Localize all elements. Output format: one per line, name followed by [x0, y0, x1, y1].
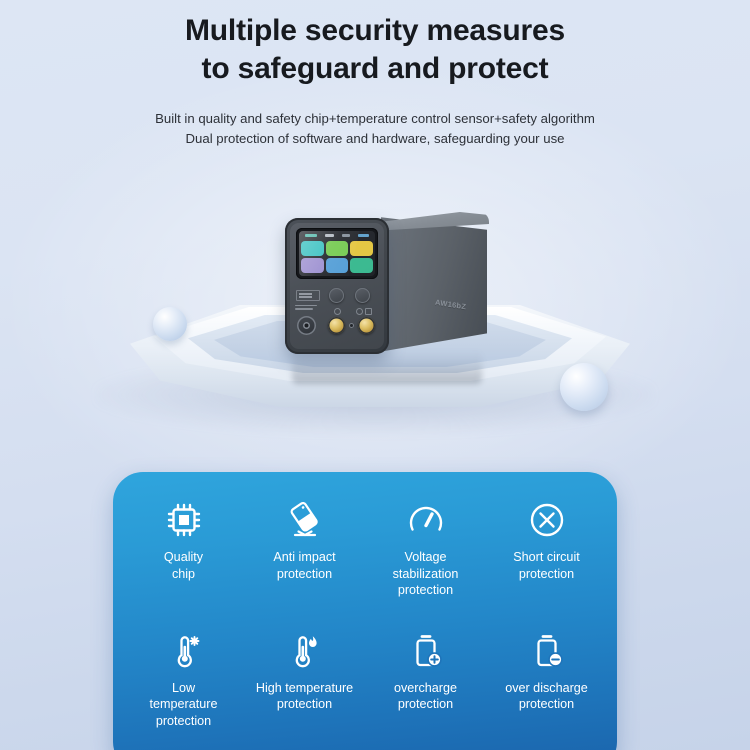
feature-label: High temperature protection — [247, 680, 362, 713]
headline-line-1: Multiple security measures — [0, 12, 750, 50]
battery-plus-icon — [368, 629, 483, 673]
wifi-bar-icon — [358, 234, 369, 237]
label-line: chip — [126, 566, 241, 583]
screen-tile-grid — [299, 240, 375, 275]
dc-input-jack[interactable] — [297, 316, 316, 335]
features-card: Quality chip — [113, 472, 617, 750]
gauge-icon — [368, 498, 483, 542]
device-front-panel — [285, 218, 389, 354]
screen-tile-4[interactable] — [301, 258, 324, 273]
label-line: overcharge — [368, 680, 483, 697]
product-scene: AW16bZ — [0, 150, 750, 480]
small-indicator-hole — [349, 323, 354, 328]
label-line: protection — [489, 696, 604, 713]
device-side-panel — [381, 213, 487, 353]
decorative-sphere-right — [560, 363, 608, 411]
screen-face — [299, 231, 375, 276]
page-title: Multiple security measures to safeguard … — [0, 0, 750, 89]
device-display-screen[interactable] — [296, 228, 378, 279]
label-line-1 — [295, 305, 317, 306]
label-line: stabilization — [368, 566, 483, 583]
label-line: protection — [489, 566, 604, 583]
label-line: Quality — [126, 549, 241, 566]
signal-bar-icon — [305, 234, 317, 237]
header-section: Multiple security measures to safeguard … — [0, 0, 750, 150]
label-bar-icon — [325, 234, 334, 237]
label-line: High temperature — [247, 680, 362, 697]
chip-icon — [126, 498, 241, 542]
label-line: protection — [368, 582, 483, 599]
port-marking-2 — [356, 308, 363, 315]
device-spec-print — [296, 290, 320, 301]
battery-minus-icon — [489, 629, 604, 673]
page-subtitle: Built in quality and safety chip+tempera… — [0, 89, 750, 150]
screen-status-bar — [299, 231, 375, 240]
label-line: protection — [247, 566, 362, 583]
feature-over-discharge: over discharge protection — [486, 629, 607, 730]
device-button-1[interactable] — [329, 288, 344, 303]
label-line-2 — [295, 308, 313, 309]
label-line: Voltage — [368, 549, 483, 566]
screen-tile-5[interactable] — [326, 258, 349, 273]
thermometer-snowflake-icon — [126, 629, 241, 673]
gold-output-port-2[interactable] — [358, 317, 375, 334]
feature-label: Quality chip — [126, 549, 241, 582]
screen-tile-6[interactable] — [350, 258, 373, 273]
feature-short-circuit: Short circuit protection — [486, 498, 607, 599]
label-line: protection — [126, 713, 241, 730]
feature-low-temperature: Low temperature protection — [123, 629, 244, 730]
port-marking-3 — [365, 308, 372, 315]
gold-output-port-1[interactable] — [328, 317, 345, 334]
feature-quality-chip: Quality chip — [123, 498, 244, 599]
label-line: temperature — [126, 696, 241, 713]
features-grid: Quality chip — [113, 472, 617, 730]
device-port-label — [295, 305, 321, 312]
feature-anti-impact: Anti impact protection — [244, 498, 365, 599]
feature-label: Low temperature protection — [126, 680, 241, 730]
decorative-sphere-left — [153, 307, 187, 341]
product-marketing-page: Multiple security measures to safeguard … — [0, 0, 750, 750]
feature-label: Voltage stabilization protection — [368, 549, 483, 599]
port-marking-1 — [334, 308, 341, 315]
circle-x-icon — [489, 498, 604, 542]
screen-tile-2[interactable] — [326, 241, 349, 256]
anti-impact-icon — [247, 498, 362, 542]
status-bar-icon — [342, 234, 350, 237]
subhead-line-1: Built in quality and safety chip+tempera… — [0, 109, 750, 129]
feature-label: Anti impact protection — [247, 549, 362, 582]
device-button-2[interactable] — [355, 288, 370, 303]
feature-overcharge: overcharge protection — [365, 629, 486, 730]
features-row-2: Low temperature protection — [123, 629, 607, 730]
label-line: Anti impact — [247, 549, 362, 566]
subhead-line-2: Dual protection of software and hardware… — [0, 129, 750, 149]
screen-tile-3[interactable] — [350, 241, 373, 256]
feature-label: over discharge protection — [489, 680, 604, 713]
label-line: over discharge — [489, 680, 604, 697]
headline-line-2: to safeguard and protect — [0, 50, 750, 88]
label-line: Low — [126, 680, 241, 697]
thermometer-flame-icon — [247, 629, 362, 673]
label-line: protection — [368, 696, 483, 713]
feature-label: overcharge protection — [368, 680, 483, 713]
power-station-device: AW16bZ — [285, 212, 485, 360]
feature-high-temperature: High temperature protection — [244, 629, 365, 730]
feature-label: Short circuit protection — [489, 549, 604, 582]
screen-tile-1[interactable] — [301, 241, 324, 256]
label-line: protection — [247, 696, 362, 713]
features-row-1: Quality chip — [123, 498, 607, 599]
label-line: Short circuit — [489, 549, 604, 566]
feature-voltage-stabilization: Voltage stabilization protection — [365, 498, 486, 599]
